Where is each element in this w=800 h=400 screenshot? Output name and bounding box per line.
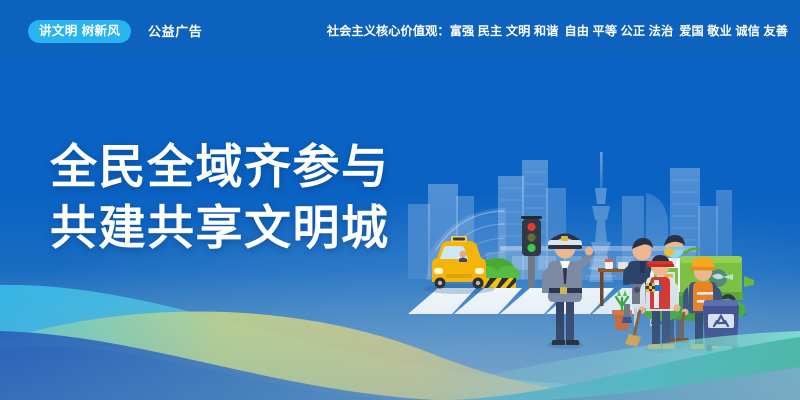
core-values-group-3: 爱国 敬业 诚信 友善 [679,24,788,38]
public-service-ad-poster: 全民全域齐参与 共建共享文明城 讲文明 树新风 公益广告 社会主义核心价值观：富… [0,0,800,400]
core-values-strip: 社会主义核心价值观：富强 民主 文明 和谐自由 平等 公正 法治爱国 敬业 诚信… [327,20,788,43]
decorative-waves [0,275,800,400]
campaign-badge-label: 讲文明 树新风 [39,25,120,38]
headline-line-2: 共建共享文明城 [50,197,390,258]
core-values-group-2: 自由 平等 公正 法治 [564,24,673,38]
core-values-prefix: 社会主义核心价值观： [327,24,450,38]
headline-line-1: 全民全域齐参与 [50,136,390,197]
core-values-group-1: 富强 民主 文明 和谐 [450,24,559,38]
campaign-badge[interactable]: 讲文明 树新风 [28,20,131,43]
header-bar: 讲文明 树新风 公益广告 社会主义核心价值观：富强 民主 文明 和谐自由 平等 … [0,0,800,56]
public-ad-label: 公益广告 [148,20,202,43]
page-title: 全民全域齐参与 共建共享文明城 [50,136,390,258]
